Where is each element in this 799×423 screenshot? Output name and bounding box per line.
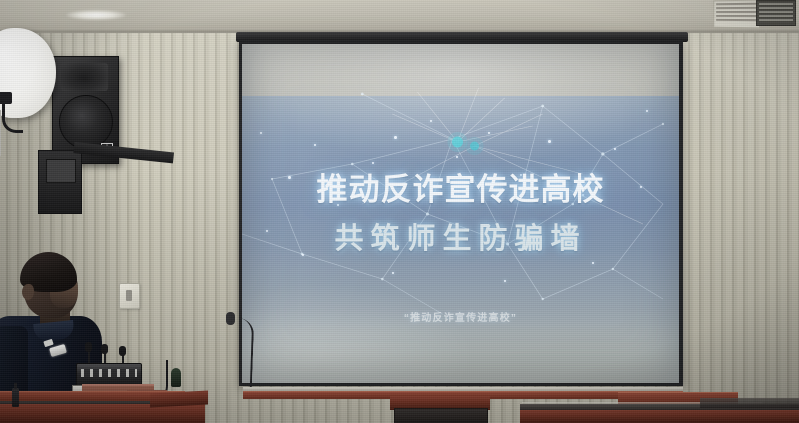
vent-slat [716, 11, 757, 13]
speaker-horn [61, 63, 108, 91]
lecture-hall-photo: A [0, 0, 799, 423]
center-desk-panel [394, 408, 488, 423]
panel-support-post [0, 110, 1, 156]
ceiling-light [66, 10, 126, 20]
speaker-mount-bracket [38, 150, 82, 214]
vent-slat [759, 11, 793, 13]
wall-light-switch[interactable] [119, 283, 140, 309]
projection-screen-frame: 推动反诈宣传进高校 共筑师生防骗墙 “推动反诈宣传进高校” [239, 40, 683, 386]
vent-slat [716, 15, 757, 17]
air-conditioning-vent [713, 0, 760, 28]
presenter-ear [22, 284, 34, 300]
cable-connector [0, 92, 12, 104]
mixer-fader-row[interactable] [81, 369, 137, 377]
air-conditioning-vent-dark [756, 0, 796, 26]
slide-title-line-2: 共筑师生防骗墙 [242, 215, 679, 257]
slide-title-block: 推动反诈宣传进高校 共筑师生防骗墙 [242, 164, 679, 257]
slide-subtitle: “推动反诈宣传进高校” [242, 309, 679, 324]
vent-slat [716, 7, 757, 9]
microphone-head [85, 342, 92, 352]
water-bottle [12, 388, 19, 407]
left-desk-front [0, 404, 205, 423]
vent-slat [716, 19, 757, 21]
microphone-head [101, 344, 108, 354]
right-desk-shadow [700, 398, 799, 408]
screen-power-cable [228, 318, 254, 391]
speaker-woofer [59, 95, 113, 149]
vent-slat [716, 3, 757, 6]
vent-slat [759, 3, 793, 5]
vent-slat [759, 19, 793, 21]
slide-title-line-1: 推动反诈宣传进高校 [242, 164, 679, 209]
projection-screen-surface: 推动反诈宣传进高校 共筑师生防骗墙 “推动反诈宣传进高校” [242, 44, 679, 383]
microphone-head [119, 346, 126, 356]
desk-object [171, 368, 181, 387]
vent-slat [759, 15, 793, 17]
right-desk-front [520, 410, 799, 423]
vent-slat [759, 7, 793, 9]
